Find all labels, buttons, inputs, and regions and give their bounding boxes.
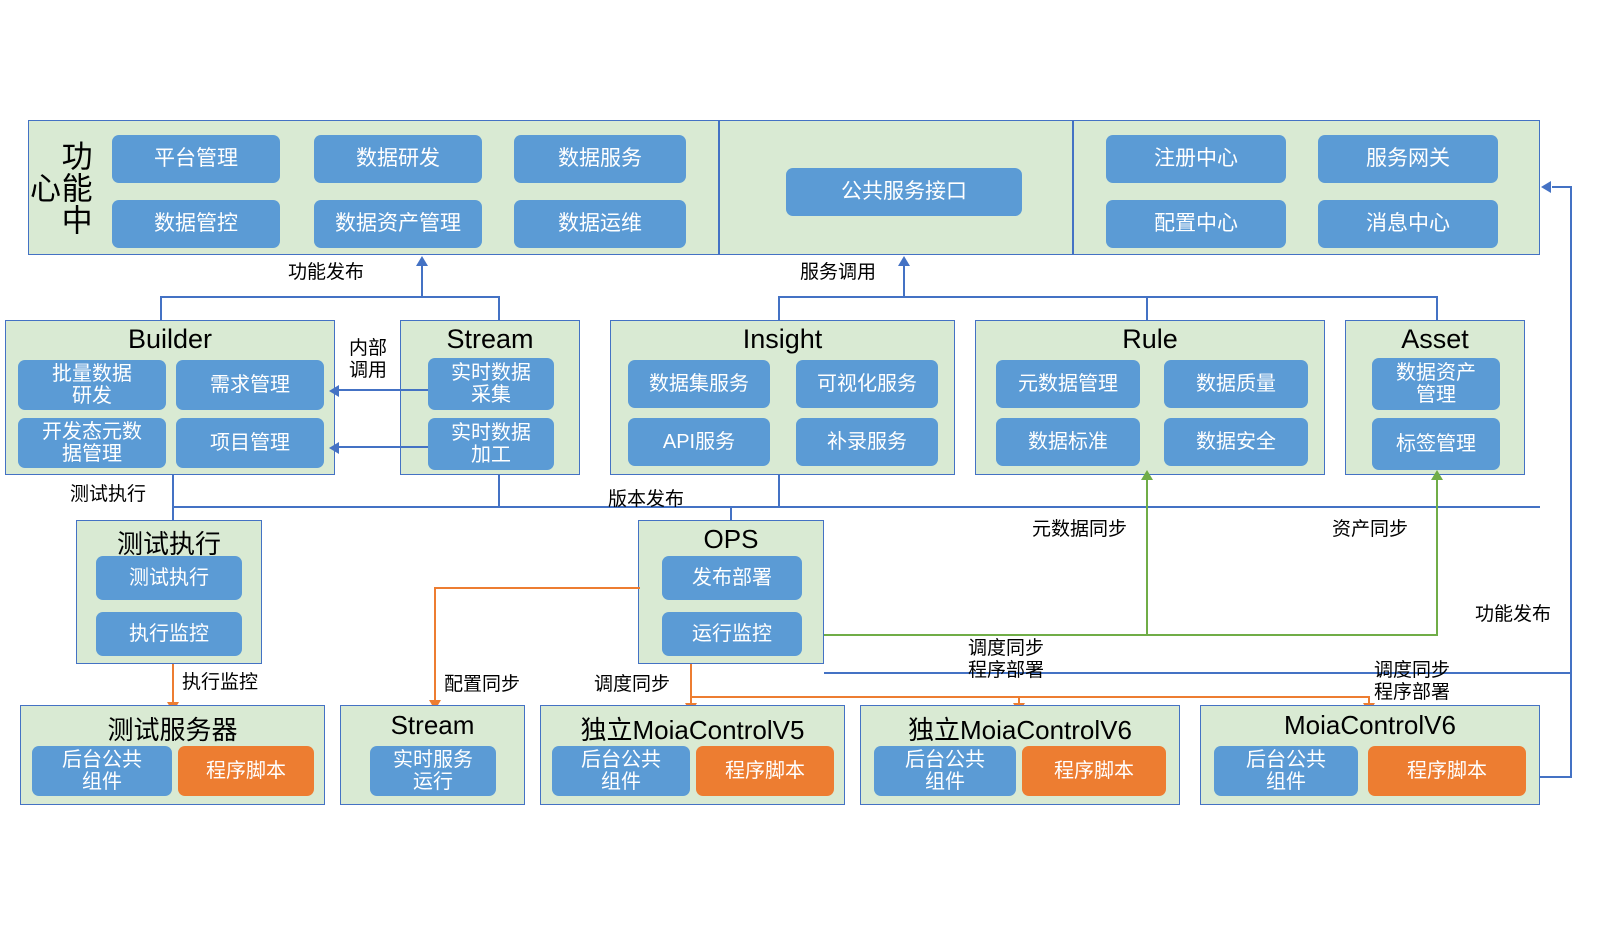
chip-release-deploy[interactable]: 发布部署	[662, 556, 802, 600]
edge-label-schedule-sync: 调度同步	[594, 674, 670, 696]
edge-label-internal-call: 内部 调用	[341, 338, 395, 383]
edge-service-call-riser	[903, 266, 905, 298]
edge-label-exec-monitor: 执行监控	[182, 672, 258, 694]
edge-label-schedule-sync-deploy-2: 调度同步 程序部署	[1374, 660, 1450, 705]
edge-service-call-horizontal	[778, 296, 1438, 298]
chip-supplementary-service[interactable]: 补录服务	[796, 418, 938, 466]
edge-asset-sync-riser	[1436, 478, 1438, 636]
module-builder-title: Builder	[5, 324, 335, 355]
edge-asset-up	[1436, 296, 1438, 322]
edge-builder-down	[172, 475, 174, 508]
chip-requirement-management[interactable]: 需求管理	[176, 360, 324, 410]
chip-data-governance[interactable]: 数据管控	[112, 200, 280, 248]
edge-label-test-execute: 测试执行	[70, 484, 146, 506]
edge-config-sync-horizontal	[434, 587, 640, 589]
chip-data-asset-mgmt[interactable]: 数据资产 管理	[1372, 358, 1500, 410]
chip-batch-data-development[interactable]: 批量数据 研发	[18, 360, 166, 410]
edge-label-metadata-sync: 元数据同步	[1032, 519, 1127, 541]
edge-internal-call-bottom	[338, 446, 428, 448]
chip-tag-management[interactable]: 标签管理	[1372, 418, 1500, 470]
edge-label-service-call: 服务调用	[800, 262, 876, 284]
chip-metadata-management[interactable]: 元数据管理	[996, 360, 1140, 408]
box-stream-runtime-title: Stream	[340, 710, 525, 741]
band-divider-2	[1072, 120, 1074, 255]
edge-label-version-publish: 版本发布	[608, 489, 684, 511]
edge-stream-down	[498, 475, 500, 508]
edge-function-publish-arrow	[416, 256, 428, 266]
chip-message-center[interactable]: 消息中心	[1318, 200, 1498, 248]
edge-label-function-publish-right: 功能发布	[1475, 604, 1551, 626]
chip-program-script-2[interactable]: 程序脚本	[696, 746, 834, 796]
edge-internal-call-top	[338, 389, 428, 391]
chip-program-script-3[interactable]: 程序脚本	[1022, 746, 1166, 796]
edge-label-config-sync: 配置同步	[444, 674, 520, 696]
chip-data-security[interactable]: 数据安全	[1164, 418, 1308, 466]
edge-version-publish-bus	[172, 506, 1540, 508]
architecture-diagram: 功能中心 平台管理 数据研发 数据服务 数据管控 数据资产管理 数据运维 公共服…	[0, 0, 1611, 940]
chip-backend-common-component-4[interactable]: 后台公共 组件	[1214, 746, 1358, 796]
edge-internal-call-top-arrow	[329, 385, 339, 397]
chip-execution-monitor[interactable]: 执行监控	[96, 612, 242, 656]
edge-stream-up	[498, 296, 500, 322]
edge-rule-up	[1146, 296, 1148, 322]
chip-realtime-data-processing[interactable]: 实时数据 加工	[428, 418, 554, 470]
box-standalone-moiacontrol-v5-title: 独立MoiaControlV5	[540, 710, 845, 747]
box-standalone-moiacontrol-v6-title: 独立MoiaControlV6	[860, 710, 1180, 747]
function-center-side-label: 功能中心	[36, 126, 80, 250]
chip-dataset-service[interactable]: 数据集服务	[628, 360, 770, 408]
box-moiacontrol-v6-title: MoiaControlV6	[1200, 710, 1540, 741]
chip-service-gateway[interactable]: 服务网关	[1318, 135, 1498, 183]
chip-realtime-data-collection[interactable]: 实时数据 采集	[428, 358, 554, 410]
chip-backend-common-component-3[interactable]: 后台公共 组件	[874, 746, 1016, 796]
chip-visualization-service[interactable]: 可视化服务	[796, 360, 938, 408]
edge-asset-sync-arrow	[1431, 470, 1443, 480]
chip-platform-management[interactable]: 平台管理	[112, 135, 280, 183]
edge-insight-up	[778, 296, 780, 322]
edge-label-schedule-sync-deploy: 调度同步 程序部署	[968, 638, 1044, 683]
edge-metadata-sync-arrow	[1141, 470, 1153, 480]
edge-config-sync-drop	[434, 587, 436, 705]
chip-backend-common-component-2[interactable]: 后台公共 组件	[552, 746, 690, 796]
chip-api-service[interactable]: API服务	[628, 418, 770, 466]
chip-registry-center[interactable]: 注册中心	[1106, 135, 1286, 183]
chip-runtime-monitor[interactable]: 运行监控	[662, 612, 802, 656]
box-test-server-title: 测试服务器	[20, 710, 325, 747]
chip-program-script-1[interactable]: 程序脚本	[178, 746, 314, 796]
edge-insight-down	[778, 475, 780, 508]
edge-internal-call-bottom-arrow	[329, 442, 339, 454]
module-stream-title: Stream	[400, 324, 580, 355]
edge-ops-right-bus	[824, 672, 1570, 674]
edge-return-arrow	[1541, 181, 1551, 193]
edge-function-publish-riser	[421, 266, 423, 298]
chip-public-service-interface[interactable]: 公共服务接口	[786, 168, 1022, 216]
chip-test-execution[interactable]: 测试执行	[96, 556, 242, 600]
chip-config-center[interactable]: 配置中心	[1106, 200, 1286, 248]
edge-label-function-publish: 功能发布	[288, 262, 364, 284]
module-rule-title: Rule	[975, 324, 1325, 355]
edge-exec-monitor-drop	[172, 664, 174, 707]
edge-sync-bus	[824, 634, 1436, 636]
edge-service-call-arrow	[898, 256, 910, 266]
edge-ops-bottom-trunk	[690, 664, 692, 698]
module-insight-title: Insight	[610, 324, 955, 355]
chip-data-service[interactable]: 数据服务	[514, 135, 686, 183]
chip-data-development[interactable]: 数据研发	[314, 135, 482, 183]
chip-program-script-4[interactable]: 程序脚本	[1368, 746, 1526, 796]
edge-label-asset-sync: 资产同步	[1332, 519, 1408, 541]
box-ops-title: OPS	[638, 524, 824, 555]
module-asset-title: Asset	[1345, 324, 1525, 355]
chip-data-asset-management[interactable]: 数据资产管理	[314, 200, 482, 248]
edge-builder-up	[160, 296, 162, 322]
chip-realtime-service-runtime[interactable]: 实时服务 运行	[370, 746, 496, 796]
chip-data-standard[interactable]: 数据标准	[996, 418, 1140, 466]
chip-project-management[interactable]: 项目管理	[176, 418, 324, 468]
edge-ops-bottom-bus	[690, 696, 1368, 698]
band-divider-1	[718, 120, 720, 255]
chip-data-operations[interactable]: 数据运维	[514, 200, 686, 248]
chip-backend-common-component-1[interactable]: 后台公共 组件	[32, 746, 172, 796]
chip-data-quality[interactable]: 数据质量	[1164, 360, 1308, 408]
edge-return-riser	[1570, 186, 1572, 778]
chip-dev-metadata-management[interactable]: 开发态元数 据管理	[18, 418, 166, 468]
edge-metadata-sync-riser	[1146, 478, 1148, 636]
edge-function-publish-horizontal	[160, 296, 500, 298]
edge-return-to-band	[1552, 186, 1572, 188]
